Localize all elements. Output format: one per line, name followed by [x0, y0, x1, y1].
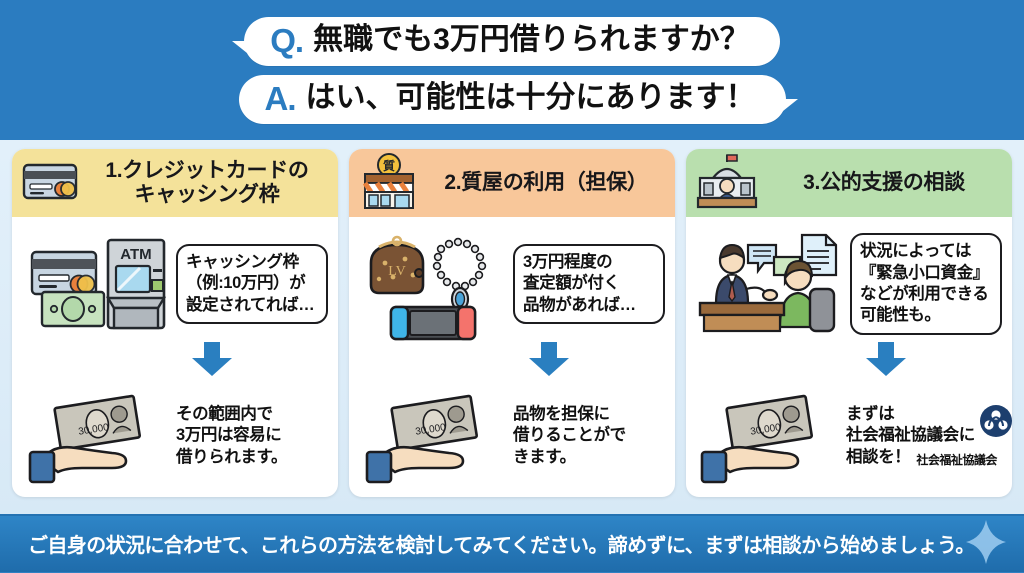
card-1-title-line-1: 1.クレジットカードの — [86, 159, 328, 183]
card-2-bottom-row: 30,000 品物を担保に 借りることがで きます。 — [359, 381, 665, 491]
card-credit-card-cashing: 1.クレジットカードの キャッシング枠 — [12, 149, 338, 497]
card-3-title-line-1: 3.公的支援の相談 — [766, 171, 1002, 195]
footer-divider — [0, 514, 1024, 516]
answer-bubble-tail — [778, 99, 798, 115]
card-1-speech-bubble: キャッシング枠 （例:10万円）が 設定されてれば… — [176, 244, 328, 324]
card-pawn-shop: 質 2.質屋の利用（担保） — [349, 149, 675, 497]
card-3-speech-bubble: 状況によっては 『緊急小口資金』 などが利用できる 可能性も。 — [850, 233, 1002, 335]
credit-card-icon — [22, 161, 78, 206]
sparkle-icon — [960, 516, 1012, 573]
infographic-root: Q. 無職でも3万円借りられますか？ A. はい、可能性は十分にあります！ — [0, 0, 1024, 572]
shakyo-logo-caption: 社会福祉協議会 — [916, 453, 997, 469]
atm-and-card-illustration: ATM — [22, 228, 170, 340]
card-1-speech-line-1: キャッシング枠 — [186, 252, 318, 273]
card-2-speech-line-2: 査定額が付く — [523, 273, 655, 294]
card-3-bottom-row: 30,000 まずは 社会福祉協議会に — [696, 381, 1002, 491]
hand-with-banknote-illustration: 30,000 — [696, 384, 840, 488]
card-3-speech-line-1: 状況によっては — [860, 241, 992, 262]
card-1-arrow-row — [22, 343, 328, 379]
pawn-shop-icon: 質 — [359, 152, 419, 215]
card-2-speech-line-3: 品物があれば… — [523, 295, 655, 316]
card-2-outcome-line-3: きます。 — [513, 447, 665, 468]
card-1-outcome: その範囲内で 3万円は容易に 借りられます。 — [176, 404, 328, 468]
card-1-header: 1.クレジットカードの キャッシング枠 — [12, 149, 338, 217]
card-3-speech-line-3: などが利用できる — [860, 284, 992, 305]
hand-with-banknote-illustration: 30,000 — [359, 384, 507, 488]
answer-label: A. — [265, 82, 296, 115]
card-3-outcome-line-2: 社会福祉協議会に — [846, 425, 975, 446]
card-1-title-line-2: キャッシング枠 — [86, 183, 328, 207]
answer-text: はい、可能性は十分にあります！ — [306, 82, 756, 114]
svg-text:LV: LV — [388, 264, 405, 279]
card-3-outcome-line-3: 相談を！ — [846, 447, 910, 468]
card-3-top-row: 状況によっては 『緊急小口資金』 などが利用できる 可能性も。 — [696, 225, 1002, 343]
card-3-speech-line-2: 『緊急小口資金』 — [860, 263, 992, 284]
shakyo-logo — [979, 404, 1012, 443]
card-1-speech-line-3: 設定されてれば… — [186, 295, 318, 316]
card-2-speech-line-1: 3万円程度の — [523, 252, 655, 273]
card-2-outcome: 品物を担保に 借りることがで きます。 — [513, 404, 665, 468]
card-2-arrow-row — [359, 343, 665, 379]
card-3-body: 状況によっては 『緊急小口資金』 などが利用できる 可能性も。 — [686, 217, 1012, 497]
card-2-title-line-1: 2.質屋の利用（担保） — [427, 171, 665, 195]
card-1-speech-line-2: （例:10万円）が — [186, 273, 318, 294]
card-1-top-row: ATM キャッシング枠 （例:10万円）が 設定されてれば… — [22, 225, 328, 343]
question-bubble-tail — [232, 41, 252, 57]
card-1-outcome-line-3: 借りられます。 — [176, 447, 328, 468]
card-1-title: 1.クレジットカードの キャッシング枠 — [86, 159, 328, 207]
government-building-icon — [696, 152, 758, 215]
card-2-top-row: LV — [359, 225, 665, 343]
card-2-body: LV — [349, 217, 675, 497]
cards-container: 1.クレジットカードの キャッシング枠 — [0, 140, 1024, 514]
card-3-outcome-line-1: まずは — [846, 404, 975, 425]
card-1-body: ATM キャッシング枠 （例:10万円）が 設定されてれば… — [12, 217, 338, 497]
answer-bubble: A. はい、可能性は十分にあります！ — [239, 75, 786, 124]
footer-text: ご自身の状況に合わせて、これらの方法を検討してみてください。諦めずに、まずは相談… — [0, 529, 975, 558]
consultation-illustration — [696, 227, 844, 341]
card-1-bottom-row: 30,000 その範囲内で 3万円は容易に 借りられます。 — [22, 381, 328, 491]
footer-band: ご自身の状況に合わせて、これらの方法を検討してみてください。諦めずに、まずは相談… — [0, 514, 1024, 572]
card-1-outcome-line-1: その範囲内で — [176, 404, 328, 425]
hand-with-banknote-illustration: 30,000 — [22, 384, 170, 488]
card-2-outcome-line-1: 品物を担保に — [513, 404, 665, 425]
card-3-arrow-row — [696, 343, 1002, 379]
question-label: Q. — [270, 24, 303, 57]
down-arrow-icon — [192, 342, 232, 381]
card-3-title: 3.公的支援の相談 — [766, 171, 1002, 195]
card-1-outcome-line-2: 3万円は容易に — [176, 425, 328, 446]
valuables-illustration: LV — [359, 227, 507, 341]
svg-text:質: 質 — [383, 158, 395, 173]
card-3-header: 3.公的支援の相談 — [686, 149, 1012, 217]
down-arrow-icon — [866, 342, 906, 381]
svg-text:ATM: ATM — [120, 246, 151, 263]
card-2-header: 質 2.質屋の利用（担保） — [349, 149, 675, 217]
question-text: 無職でも3万円借りられますか？ — [313, 24, 750, 56]
card-public-support: 3.公的支援の相談 — [686, 149, 1012, 497]
card-3-outcome: まずは 社会福祉協議会に — [846, 404, 1012, 468]
card-2-speech-bubble: 3万円程度の 査定額が付く 品物があれば… — [513, 244, 665, 324]
card-3-speech-line-4: 可能性も。 — [860, 305, 992, 326]
card-2-title: 2.質屋の利用（担保） — [427, 171, 665, 195]
down-arrow-icon — [529, 342, 569, 381]
qa-section: Q. 無職でも3万円借りられますか？ A. はい、可能性は十分にあります！ — [0, 0, 1024, 140]
card-2-outcome-line-2: 借りることがで — [513, 425, 665, 446]
question-bubble: Q. 無職でも3万円借りられますか？ — [244, 17, 780, 66]
